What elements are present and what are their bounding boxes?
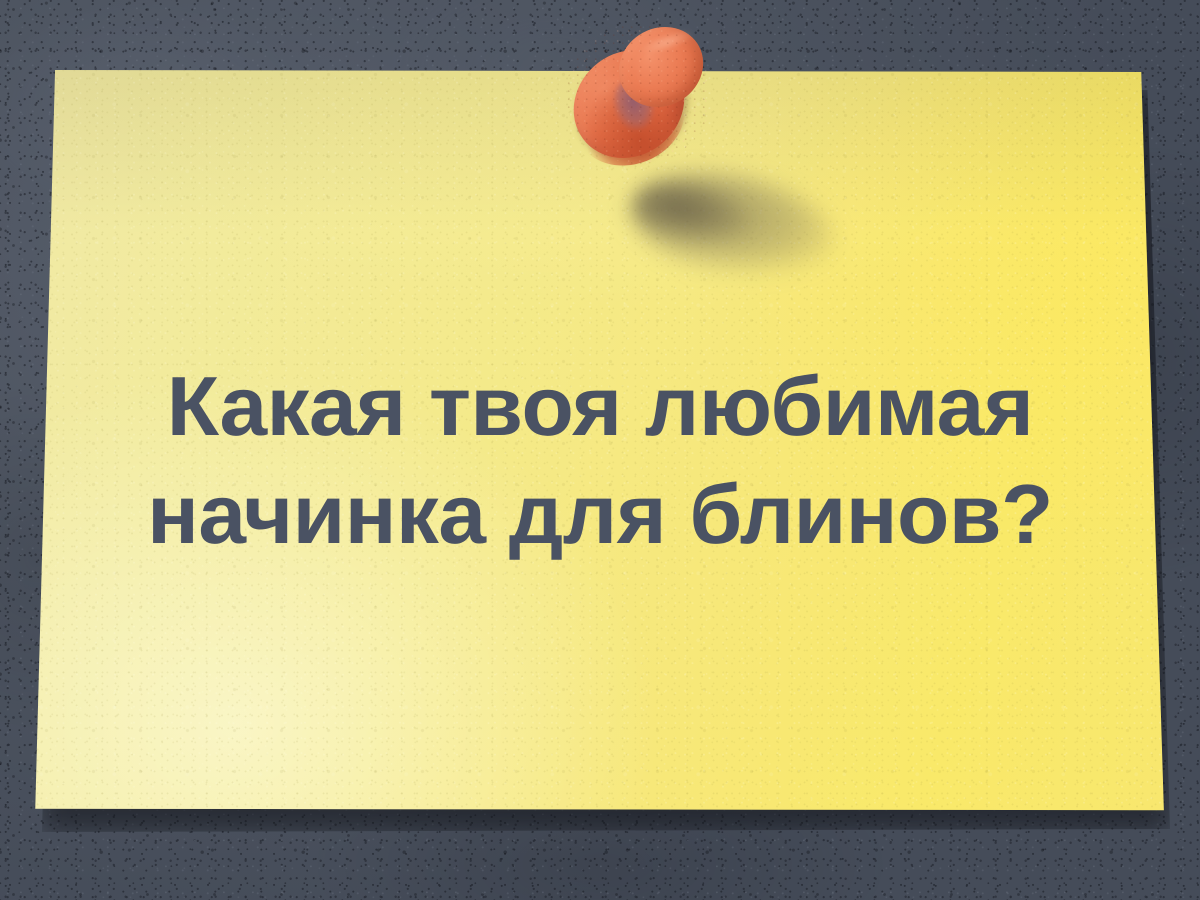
note-caption: Какая твоя любимая начинка для блинов? [0,352,1200,568]
sticky-note-image: Какая твоя любимая начинка для блинов? [0,0,1200,900]
caption-line-1: Какая твоя любимая [0,352,1200,460]
caption-line-2: начинка для блинов? [0,460,1200,568]
